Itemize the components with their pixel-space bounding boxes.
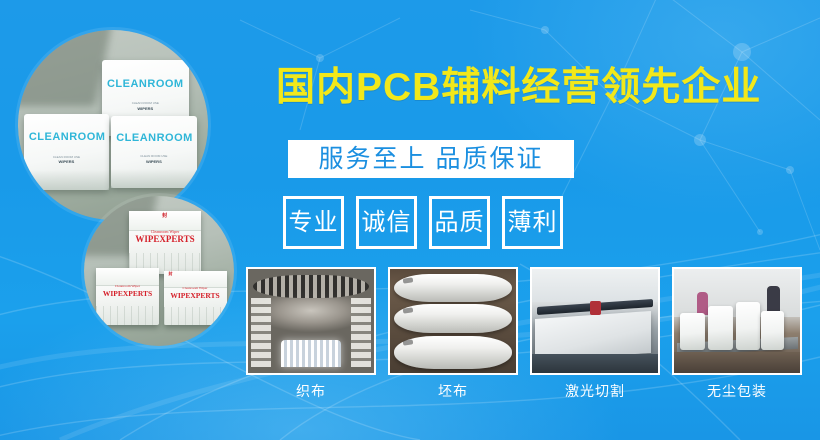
box-seal-label: 封 <box>162 214 167 219</box>
photo-caption: 织布 <box>246 384 376 398</box>
fabric-roll <box>394 274 512 302</box>
photo-frame <box>246 267 376 375</box>
wipexperts-circle: 封 Cleanroom Wiper WIPEXPERTS Cleanroom W… <box>84 196 234 346</box>
pack-brand-label: CLEANROOM <box>116 133 191 144</box>
photo-caption: 激光切割 <box>530 384 660 398</box>
cutting-bed <box>535 311 651 361</box>
knitting-machine-photo <box>248 269 374 373</box>
fabric-roll <box>394 336 512 369</box>
pack-wipers-label: WIPERS <box>146 159 162 164</box>
photo-frame <box>388 267 518 375</box>
pack-sub-label: CLEAN ROOM USEWIPERS <box>120 154 188 165</box>
process-photo-weaving[interactable]: 织布 <box>246 267 376 398</box>
box-brand-label: WIPEXPERTS <box>166 292 224 300</box>
pack-fold <box>111 169 197 188</box>
keyword-box-row: 专业 诚信 品质 薄利 <box>283 196 563 249</box>
keyword-label: 专业 <box>289 211 339 235</box>
keyword-label: 品质 <box>435 211 485 235</box>
pack-fold <box>24 170 110 190</box>
pack-wipers-label: WIPERS <box>59 159 75 164</box>
banner-headline: 国内PCB辅料经营领先企业 <box>276 68 761 107</box>
photo-caption: 无尘包装 <box>672 384 802 398</box>
machine-base <box>532 354 658 373</box>
promo-banner: CLEANROOM CLEAN ROOM USEWIPERS CLEANROOM… <box>0 0 820 440</box>
yarn-spools-left <box>251 298 271 367</box>
box-brand-label: WIPEXPERTS <box>132 235 198 244</box>
photo-caption: 坯布 <box>388 384 518 398</box>
laser-head <box>590 301 601 315</box>
pack-sub-label: CLEAN ROOM USEWIPERS <box>32 155 100 166</box>
workshop-wall <box>532 269 658 302</box>
box-brand-label: WIPEXPERTS <box>99 290 157 298</box>
worker-right <box>767 286 780 313</box>
photo-frame <box>530 267 660 375</box>
pack-sub-label: CLEAN ROOM USEWIPERS <box>110 101 180 112</box>
box-seal-label: 封 <box>169 272 173 276</box>
cleanroom-wipes-circle: CLEANROOM CLEAN ROOM USEWIPERS CLEANROOM… <box>18 30 208 220</box>
cleanroom-pack-left: CLEANROOM CLEAN ROOM USEWIPERS <box>24 114 110 190</box>
wipe-stack <box>736 302 760 350</box>
yarn-spools-right <box>351 298 371 367</box>
keyword-label: 诚信 <box>362 211 412 235</box>
wipe-stack <box>680 313 705 350</box>
wipexperts-box-top: 封 Cleanroom Wiper WIPEXPERTS <box>129 211 201 274</box>
wipe-stack <box>708 306 733 350</box>
cleanroom-packing-photo <box>674 269 800 373</box>
keyword-label: 薄利 <box>508 211 558 235</box>
wipexperts-box-left: Cleanroom Wiper WIPEXPERTS <box>96 268 159 325</box>
box-fabric-edge <box>96 306 159 325</box>
process-photo-packing[interactable]: 无尘包装 <box>672 267 802 398</box>
pack-brand-label: CLEANROOM <box>29 132 104 143</box>
fabric-rolls-photo <box>390 269 516 373</box>
worker-left <box>697 292 708 315</box>
pack-brand-label: CLEANROOM <box>107 79 184 90</box>
process-photo-laser[interactable]: 激光切割 <box>530 267 660 398</box>
banner-subtitle-bar: 服务至上 品质保证 <box>288 140 574 178</box>
wipexperts-box-right: 封 Cleanroom Wiper WIPEXPERTS <box>164 271 227 325</box>
keyword-box-chengxin[interactable]: 诚信 <box>356 196 417 249</box>
keyword-box-zhuanye[interactable]: 专业 <box>283 196 344 249</box>
pack-wipers-label: WIPERS <box>137 106 153 111</box>
wipe-stack <box>761 311 784 351</box>
photo-frame <box>672 267 802 375</box>
banner-subtitle-text: 服务至上 品质保证 <box>319 147 544 172</box>
box-fabric-edge <box>164 307 227 325</box>
process-photo-strip: 织布 坯布 激光切割 <box>246 267 802 398</box>
fabric-roll <box>394 304 512 333</box>
laser-cutting-photo <box>532 269 658 373</box>
keyword-box-baoli[interactable]: 薄利 <box>502 196 563 249</box>
cleanroom-pack-right: CLEANROOM CLEAN ROOM USEWIPERS <box>111 116 197 188</box>
process-photo-greige[interactable]: 坯布 <box>388 267 518 398</box>
table-legs-floor <box>674 352 800 373</box>
keyword-box-pinzhi[interactable]: 品质 <box>429 196 490 249</box>
